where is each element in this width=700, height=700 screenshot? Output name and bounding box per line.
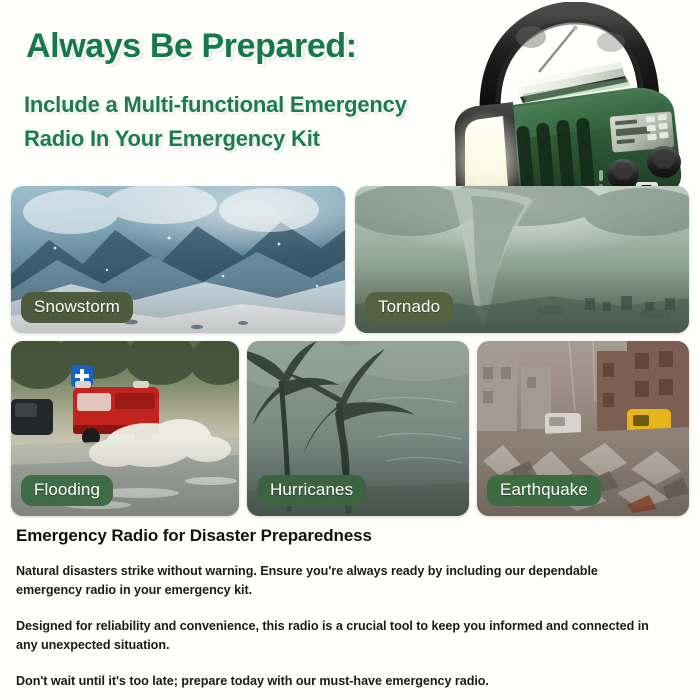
page-title: Always Be Prepared: (26, 27, 357, 66)
photo-label-snowstorm: Snowstorm (21, 292, 133, 323)
photo-label-hurricanes: Hurricanes (257, 475, 366, 506)
section-heading: Emergency Radio for Disaster Preparednes… (16, 526, 684, 546)
photo-tile-flooding[interactable]: Flooding (11, 341, 239, 516)
photo-tile-earthquake[interactable]: Earthquake (477, 341, 689, 516)
description-paragraph-3: Don't wait until it's too late; prepare … (16, 672, 652, 691)
photo-label-flooding: Flooding (21, 475, 113, 506)
photo-label-tornado: Tornado (365, 292, 453, 323)
page-subtitle: Include a Multi-functional Emergency Rad… (24, 88, 407, 156)
photo-tile-snowstorm[interactable]: Snowstorm (11, 186, 345, 333)
description-paragraph-1: Natural disasters strike without warning… (16, 562, 652, 600)
description-section: Emergency Radio for Disaster Preparednes… (16, 526, 684, 691)
disaster-photo-grid: Snowstorm (11, 186, 689, 516)
radio-antenna (539, 26, 577, 72)
photo-label-earthquake: Earthquake (487, 475, 601, 506)
description-paragraph-2: Designed for reliability and convenience… (16, 617, 652, 655)
photo-tile-tornado[interactable]: Tornado (355, 186, 689, 333)
photo-tile-hurricanes[interactable]: Hurricanes (247, 341, 469, 516)
page-subtitle-line-1: Include a Multi-functional Emergency (24, 88, 407, 122)
page-subtitle-line-2: Radio In Your Emergency Kit (24, 122, 407, 156)
